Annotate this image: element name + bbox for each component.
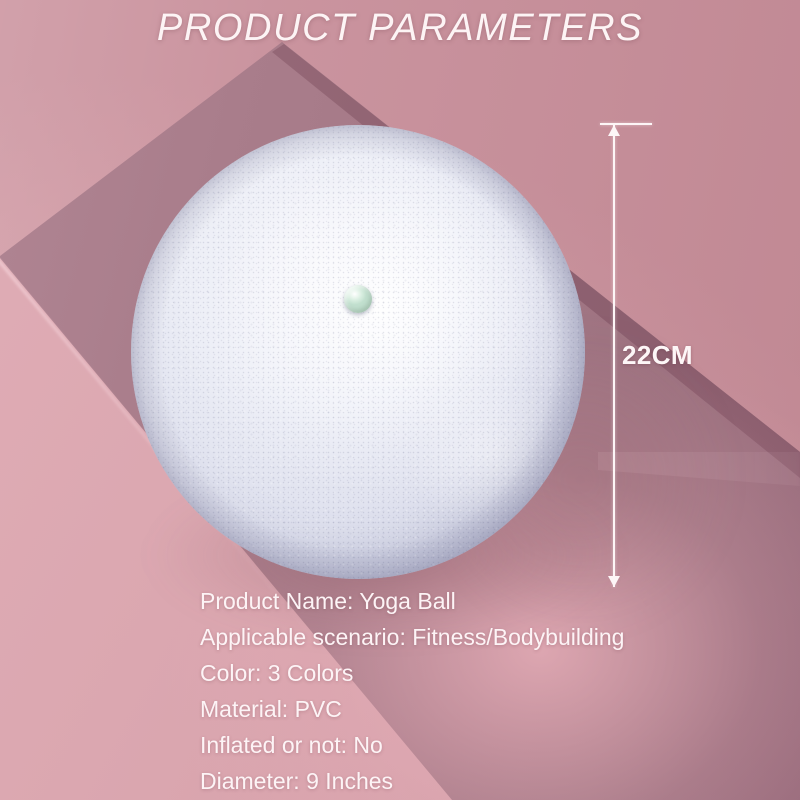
spec-row-material: Material: PVC [200,691,760,727]
spec-row-inflated: Inflated or not: No [200,727,760,763]
page-title: PRODUCT PARAMETERS [0,7,800,50]
yoga-ball-image [131,125,585,579]
spec-row-product-name: Product Name: Yoga Ball [200,583,760,619]
dimension-label: 22CM [622,340,693,371]
spec-list: Product Name: Yoga Ball Applicable scena… [200,583,760,799]
dimension-callout: 22CM [600,118,704,594]
ball-rim-shading [131,125,585,579]
spec-row-applicable-scenario: Applicable scenario: Fitness/Bodybuildin… [200,619,760,655]
inflation-valve-icon [344,285,372,313]
spec-row-color: Color: 3 Colors [200,655,760,691]
arrow-up-icon [608,125,620,136]
product-parameters-banner: PRODUCT PARAMETERS 22CM Product Name: Yo… [0,0,800,800]
spec-row-diameter: Diameter: 9 Inches [200,763,760,799]
dimension-line [613,125,615,587]
